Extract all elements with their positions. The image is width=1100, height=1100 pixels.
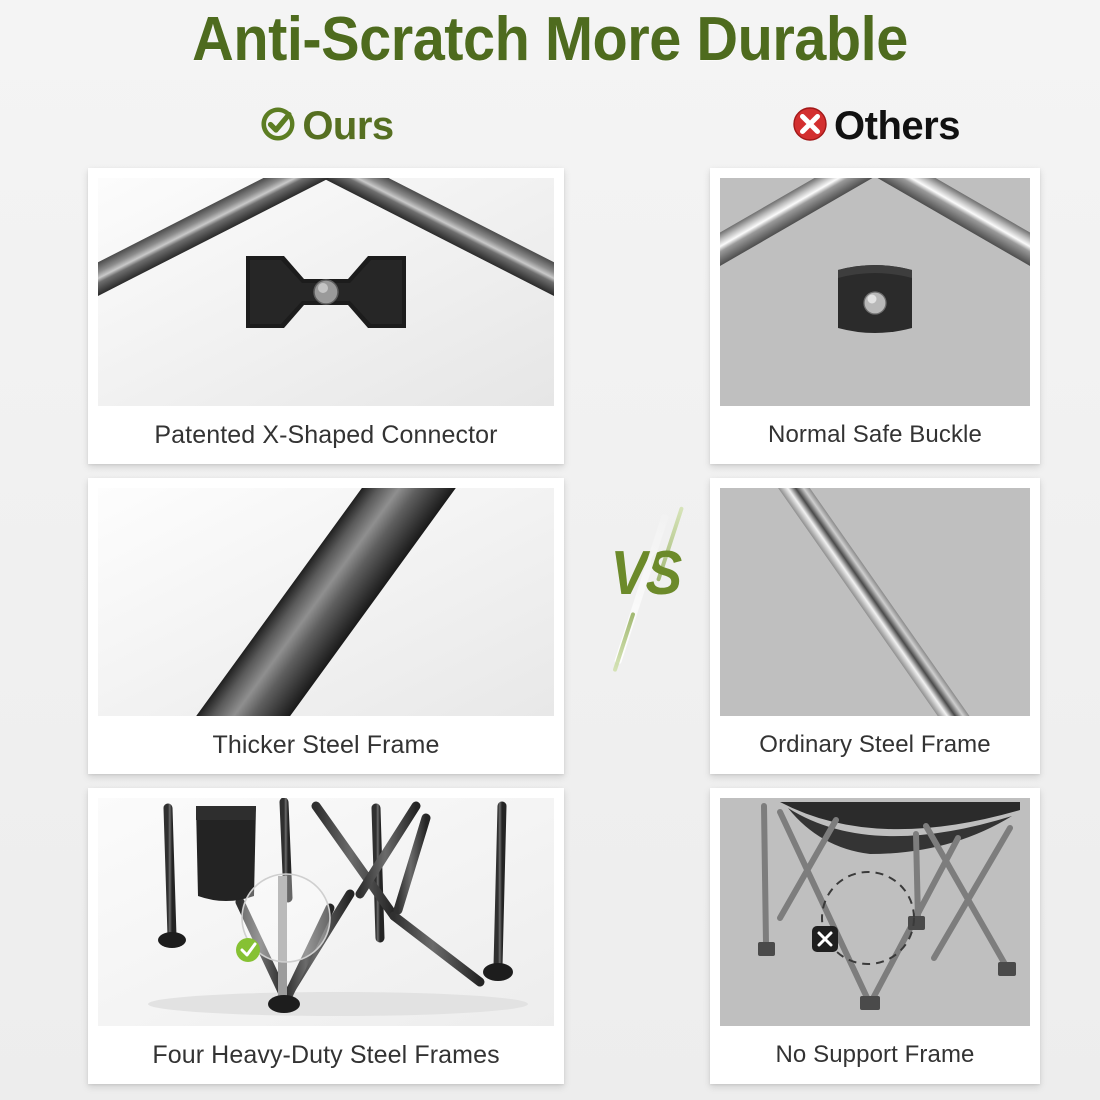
x-circle-icon xyxy=(790,104,830,149)
thick-steel-tube-photo xyxy=(98,488,554,716)
card-others-buckle: Normal Safe Buckle xyxy=(710,168,1040,464)
column-header-ours-label: Ours xyxy=(302,105,393,147)
card-caption: Normal Safe Buckle xyxy=(720,406,1030,464)
comparison-infographic: Anti-Scratch More Durable Ours Others xyxy=(0,0,1100,1100)
vs-slash-bottom-icon xyxy=(613,612,636,672)
card-ours-thick-frame: Thicker Steel Frame xyxy=(88,478,564,774)
card-caption: Patented X-Shaped Connector xyxy=(98,406,554,464)
x-shaped-connector-photo xyxy=(98,178,554,406)
card-ours-connector: Patented X-Shaped Connector xyxy=(88,168,564,464)
four-leg-frame-photo xyxy=(98,798,554,1026)
check-circle-icon xyxy=(258,104,298,149)
page-title: Anti-Scratch More Durable xyxy=(39,4,1062,76)
no-support-frame-photo xyxy=(720,798,1030,1026)
column-header-others: Others xyxy=(710,100,1040,152)
card-caption: Four Heavy-Duty Steel Frames xyxy=(98,1026,554,1084)
card-others-no-support: No Support Frame xyxy=(710,788,1040,1084)
normal-buckle-photo xyxy=(720,178,1030,406)
card-caption: No Support Frame xyxy=(720,1026,1030,1084)
card-others-ordinary-frame: Ordinary Steel Frame xyxy=(710,478,1040,774)
card-ours-four-legs: Four Heavy-Duty Steel Frames xyxy=(88,788,564,1084)
vs-divider: VS xyxy=(582,515,708,665)
card-caption: Ordinary Steel Frame xyxy=(720,716,1030,774)
title-bar: Anti-Scratch More Durable xyxy=(0,4,1100,76)
thin-steel-tube-photo xyxy=(720,488,1030,716)
column-header-others-label: Others xyxy=(834,105,960,147)
column-header-ours: Ours xyxy=(88,100,564,152)
card-caption: Thicker Steel Frame xyxy=(98,716,554,774)
